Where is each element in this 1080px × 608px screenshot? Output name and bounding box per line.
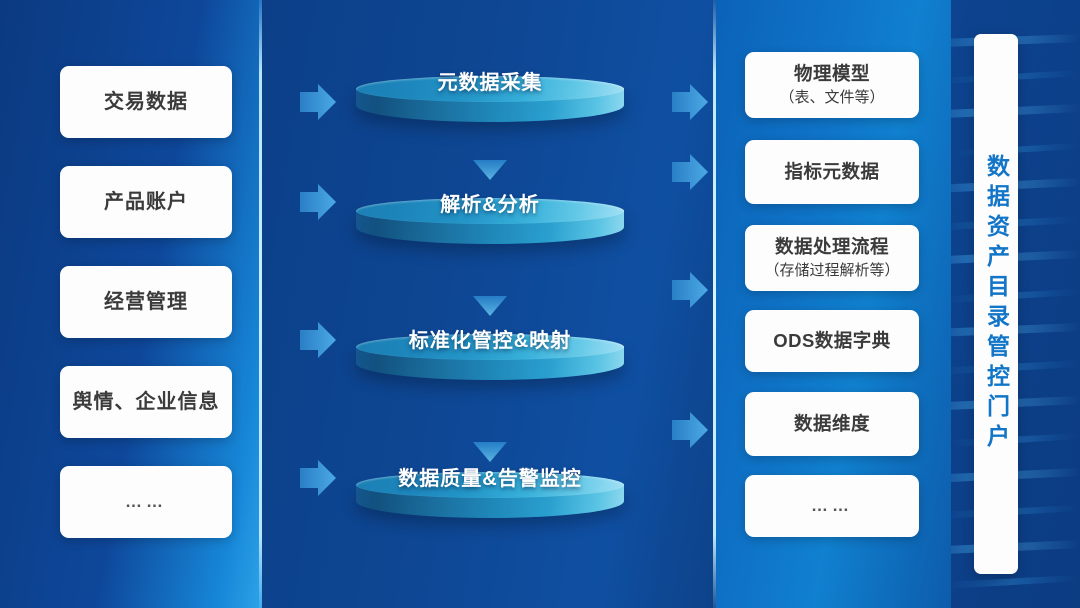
- portal-title-bar: 数据资产目录管控门户: [974, 34, 1018, 574]
- arrow-down-icon: [473, 442, 507, 464]
- arrow-right-icon: [296, 80, 340, 124]
- source-card-more[interactable]: ……: [60, 466, 232, 538]
- pipeline-stage-label: 元数据采集: [356, 66, 624, 95]
- source-card-transaction-data[interactable]: 交易数据: [60, 66, 232, 138]
- output-card-indicator-metadata[interactable]: 指标元数据: [745, 140, 919, 204]
- pipeline-stage-label: 数据质量&告警监控: [356, 462, 624, 491]
- output-card-title: 指标元数据: [784, 160, 879, 184]
- output-card-subtitle: （表、文件等）: [779, 88, 884, 108]
- arrow-right-icon: [668, 268, 712, 312]
- output-card-subtitle: （存储过程解析等）: [764, 261, 899, 281]
- source-card-label: 经营管理: [104, 289, 188, 315]
- output-card-title: 数据维度: [794, 412, 870, 436]
- arrow-right-icon: [296, 180, 340, 224]
- output-card-more[interactable]: ……: [745, 475, 919, 537]
- diagram-canvas: 交易数据 产品账户 经营管理 舆情、企业信息 …… 元数据采集: [0, 0, 1080, 608]
- output-card-physical-model[interactable]: 物理模型 （表、文件等）: [745, 52, 919, 118]
- source-card-product-account[interactable]: 产品账户: [60, 166, 232, 238]
- pipeline-stage-data-quality-alert-monitoring[interactable]: 数据质量&告警监控: [356, 472, 624, 530]
- source-card-label: 舆情、企业信息: [73, 389, 220, 415]
- arrow-right-icon: [668, 150, 712, 194]
- portal-title-text: 数据资产目录管控门户: [985, 154, 1008, 454]
- pipeline-stage-standardization-mapping[interactable]: 标准化管控&映射: [356, 334, 624, 392]
- output-card-data-dimension[interactable]: 数据维度: [745, 392, 919, 456]
- source-card-label: 产品账户: [104, 189, 188, 215]
- output-card-data-processing-flow[interactable]: 数据处理流程 （存储过程解析等）: [745, 225, 919, 291]
- output-card-title: 数据处理流程: [775, 235, 889, 259]
- source-card-label: ……: [125, 491, 167, 513]
- source-card-label: 交易数据: [104, 89, 188, 115]
- source-card-public-opinion-enterprise-info[interactable]: 舆情、企业信息: [60, 366, 232, 438]
- arrow-down-icon: [473, 160, 507, 182]
- output-card-title: 物理模型: [794, 62, 870, 86]
- arrow-right-icon: [668, 408, 712, 452]
- output-card-ods-data-dictionary[interactable]: ODS数据字典: [745, 310, 919, 372]
- pipeline-stage-metadata-collection[interactable]: 元数据采集: [356, 76, 624, 134]
- arrow-right-icon: [296, 318, 340, 362]
- source-card-business-management[interactable]: 经营管理: [60, 266, 232, 338]
- pipeline-stage-parsing-analysis[interactable]: 解析&分析: [356, 198, 624, 256]
- arrow-right-icon: [296, 456, 340, 500]
- arrow-right-icon: [668, 80, 712, 124]
- arrow-down-icon: [473, 296, 507, 318]
- output-card-title: ODS数据字典: [773, 329, 891, 353]
- output-card-title: ……: [811, 495, 853, 517]
- pipeline-stage-label: 标准化管控&映射: [356, 324, 624, 353]
- pipeline-stage-label: 解析&分析: [356, 188, 624, 217]
